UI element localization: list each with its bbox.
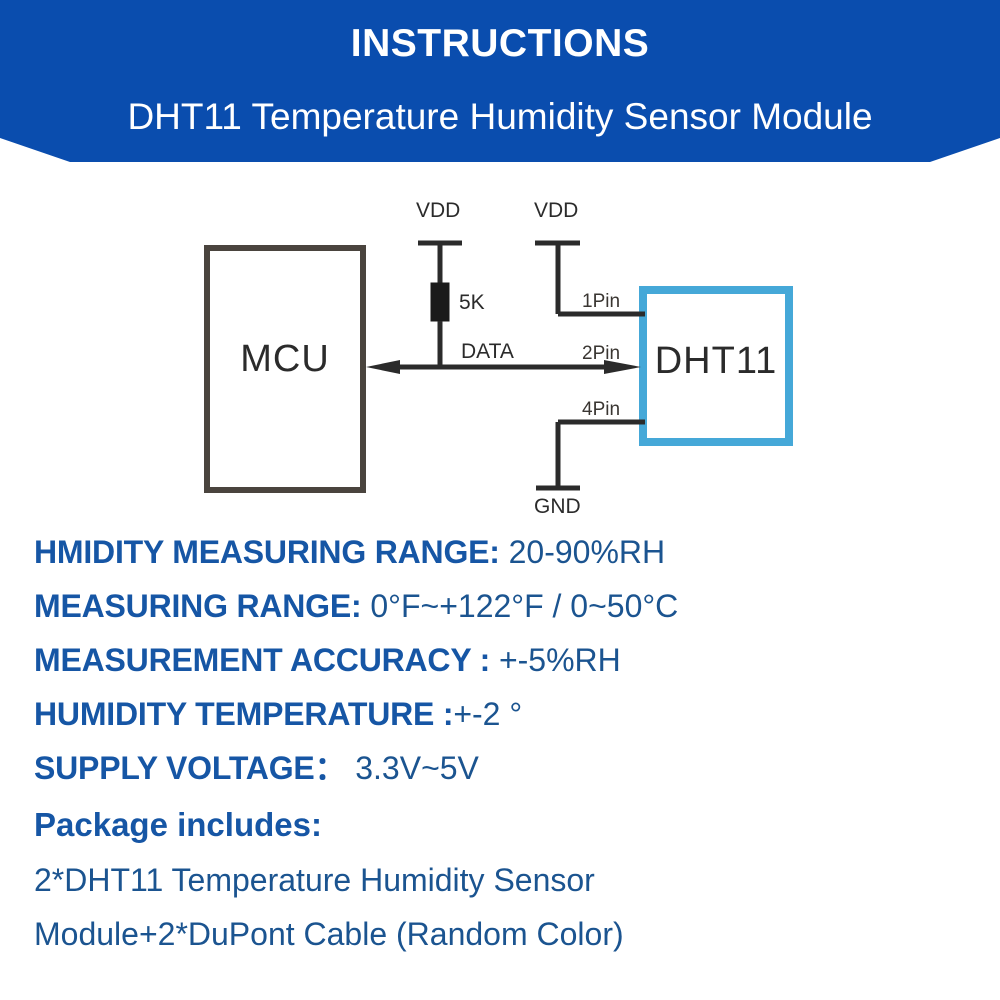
package-includes-line-1: 2*DHT11 Temperature Humidity Sensor [34,853,974,907]
vdd-right-label: VDD [534,199,578,222]
spec-row-humidity-range: HMIDITY MEASURING RANGE: 20-90%RH [34,525,974,579]
spec-value: 3.3V~5V [346,750,479,786]
spec-row-humidity-temperature: HUMIDITY TEMPERATURE :+-2 ° [34,687,974,741]
circuit-diagram: MCU DHT11 VDD 5K DATA VDD 1Pin [0,175,1000,520]
spec-value: +-5%RH [490,642,621,678]
dht11-label: DHT11 [655,340,778,382]
spec-key: SUPPLY VOLTAGE： [34,750,346,786]
spec-value: +-2 ° [453,696,522,732]
header-banner: INSTRUCTIONS DHT11 Temperature Humidity … [0,0,1000,170]
mcu-label: MCU [240,338,330,380]
pin1-label: 1Pin [582,291,620,312]
pin2-label: 2Pin [582,343,620,364]
spec-key: HUMIDITY TEMPERATURE : [34,696,453,732]
gnd-label: GND [534,495,581,518]
specifications-list: HMIDITY MEASURING RANGE: 20-90%RH MEASUR… [34,525,974,961]
instruction-sheet: INSTRUCTIONS DHT11 Temperature Humidity … [0,0,1000,1000]
pullup-resistor [431,283,449,321]
spec-row-measurement-accuracy: MEASUREMENT ACCURACY : +-5%RH [34,633,974,687]
data-arrow-to-mcu-icon [366,360,400,374]
spec-key: MEASUREMENT ACCURACY : [34,642,490,678]
resistor-value-label: 5K [459,291,485,314]
data-label: DATA [461,340,514,363]
package-includes-line-2: Module+2*DuPont Cable (Random Color) [34,907,974,961]
page-subtitle: DHT11 Temperature Humidity Sensor Module [0,96,1000,138]
spec-row-measuring-range: MEASURING RANGE: 0°F~+122°F / 0~50°C [34,579,974,633]
package-includes-heading: Package includes: [34,797,974,853]
spec-value: 20-90%RH [500,534,665,570]
spec-key: MEASURING RANGE: [34,588,361,624]
spec-row-supply-voltage: SUPPLY VOLTAGE： 3.3V~5V [34,741,974,795]
page-title: INSTRUCTIONS [0,22,1000,66]
circuit-diagram-svg: MCU DHT11 VDD 5K DATA VDD 1Pin [0,175,1000,520]
spec-value: 0°F~+122°F / 0~50°C [361,588,678,624]
pin4-label: 4Pin [582,399,620,420]
spec-key: HMIDITY MEASURING RANGE: [34,534,500,570]
vdd-left-label: VDD [416,199,460,222]
